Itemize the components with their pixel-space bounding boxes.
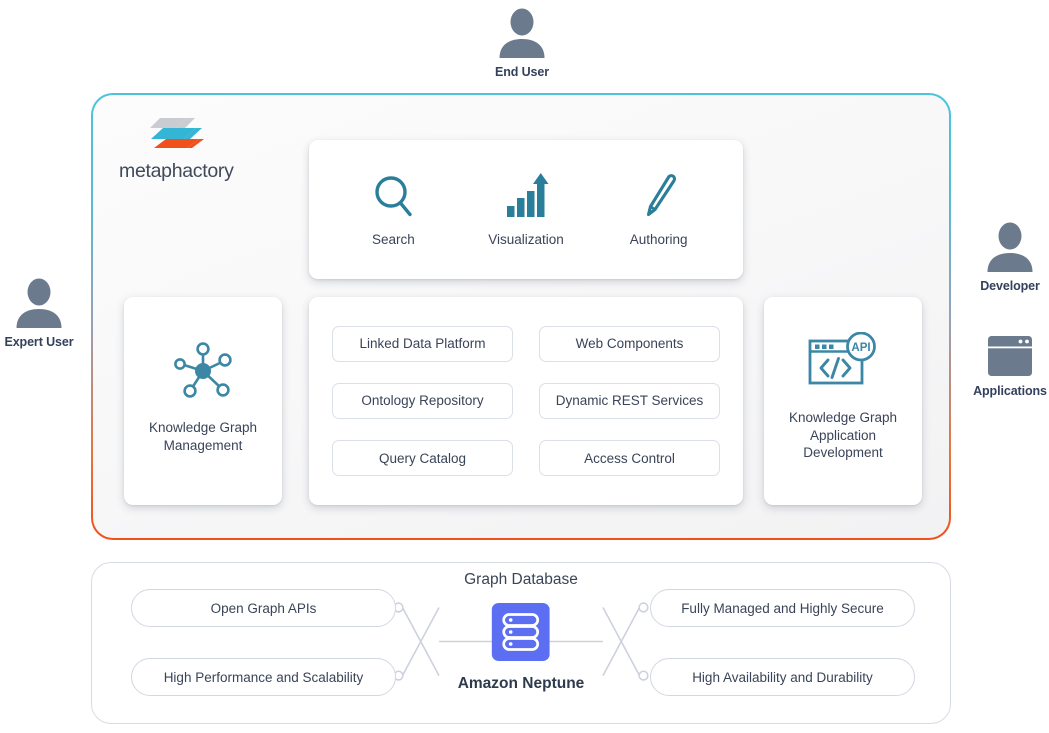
application-window-icon: [986, 335, 1034, 377]
knowledge-graph-app-development-card[interactable]: API Knowledge Graph Application Developm…: [764, 297, 922, 505]
knowledge-graph-nodes-icon: [172, 340, 234, 405]
actor-label: Applications: [973, 384, 1047, 398]
card-label: Knowledge Graph Management: [149, 419, 257, 455]
capability-visualization[interactable]: Visualization: [466, 173, 586, 247]
platform-inner-surface: metaphactory Search: [93, 95, 949, 538]
feature-pill[interactable]: Web Components: [539, 326, 720, 362]
architecture-diagram: End User Expert User Developer: [0, 0, 1049, 733]
db-attribute-pill[interactable]: High Availability and Durability: [650, 658, 915, 696]
metaphactory-platform-container: metaphactory Search: [91, 93, 951, 540]
feature-pill[interactable]: Access Control: [539, 440, 720, 476]
capability-label: Visualization: [488, 232, 564, 247]
card-label: Knowledge Graph Application Development: [789, 409, 897, 463]
feature-pill[interactable]: Query Catalog: [332, 440, 513, 476]
amazon-neptune-database-icon: [492, 603, 550, 666]
actor-label: Developer: [980, 279, 1040, 293]
capability-label: Authoring: [630, 232, 688, 247]
feature-pill[interactable]: Linked Data Platform: [332, 326, 513, 362]
feature-pill[interactable]: Ontology Repository: [332, 383, 513, 419]
graph-database-container: Graph Database: [91, 562, 951, 724]
card-label-line2: Application: [810, 428, 876, 443]
actor-label: End User: [495, 65, 549, 79]
capability-label: Search: [372, 232, 415, 247]
card-label-line2: Management: [164, 438, 243, 453]
capabilities-card: Search Visualization: [309, 140, 743, 279]
actor-label: Expert User: [4, 335, 73, 349]
actor-end-user: End User: [467, 8, 577, 79]
graph-database-title: Graph Database: [92, 571, 950, 589]
pencil-icon: [639, 173, 679, 219]
person-icon: [986, 222, 1034, 272]
brand-lockup: metaphactory: [119, 115, 289, 183]
db-attribute-pill[interactable]: Open Graph APIs: [131, 589, 396, 627]
features-card: Linked Data Platform Web Components Onto…: [309, 297, 743, 505]
card-label-line3: Development: [803, 445, 883, 460]
bar-chart-arrow-icon: [503, 173, 549, 219]
actor-developer: Developer: [955, 222, 1049, 293]
db-attribute-pill[interactable]: High Performance and Scalability: [131, 658, 396, 696]
feature-pill[interactable]: Dynamic REST Services: [539, 383, 720, 419]
actor-applications: Applications: [955, 335, 1049, 398]
db-attribute-pill[interactable]: Fully Managed and Highly Secure: [650, 589, 915, 627]
person-icon: [15, 278, 63, 328]
knowledge-graph-management-card[interactable]: Knowledge Graph Management: [124, 297, 282, 505]
card-label-line1: Knowledge Graph: [789, 410, 897, 425]
actor-expert-user: Expert User: [0, 278, 94, 349]
api-code-window-icon: API: [807, 332, 879, 395]
brand-name: metaphactory: [119, 160, 234, 183]
amazon-neptune-block[interactable]: Amazon Neptune: [458, 603, 585, 693]
capability-authoring[interactable]: Authoring: [599, 173, 719, 247]
search-icon: [371, 173, 415, 219]
metaphactory-layers-logo: [147, 115, 205, 154]
person-icon: [498, 8, 546, 58]
card-label-line1: Knowledge Graph: [149, 420, 257, 435]
amazon-neptune-label: Amazon Neptune: [458, 675, 585, 693]
api-badge-text: API: [851, 342, 870, 354]
capability-search[interactable]: Search: [333, 173, 453, 247]
